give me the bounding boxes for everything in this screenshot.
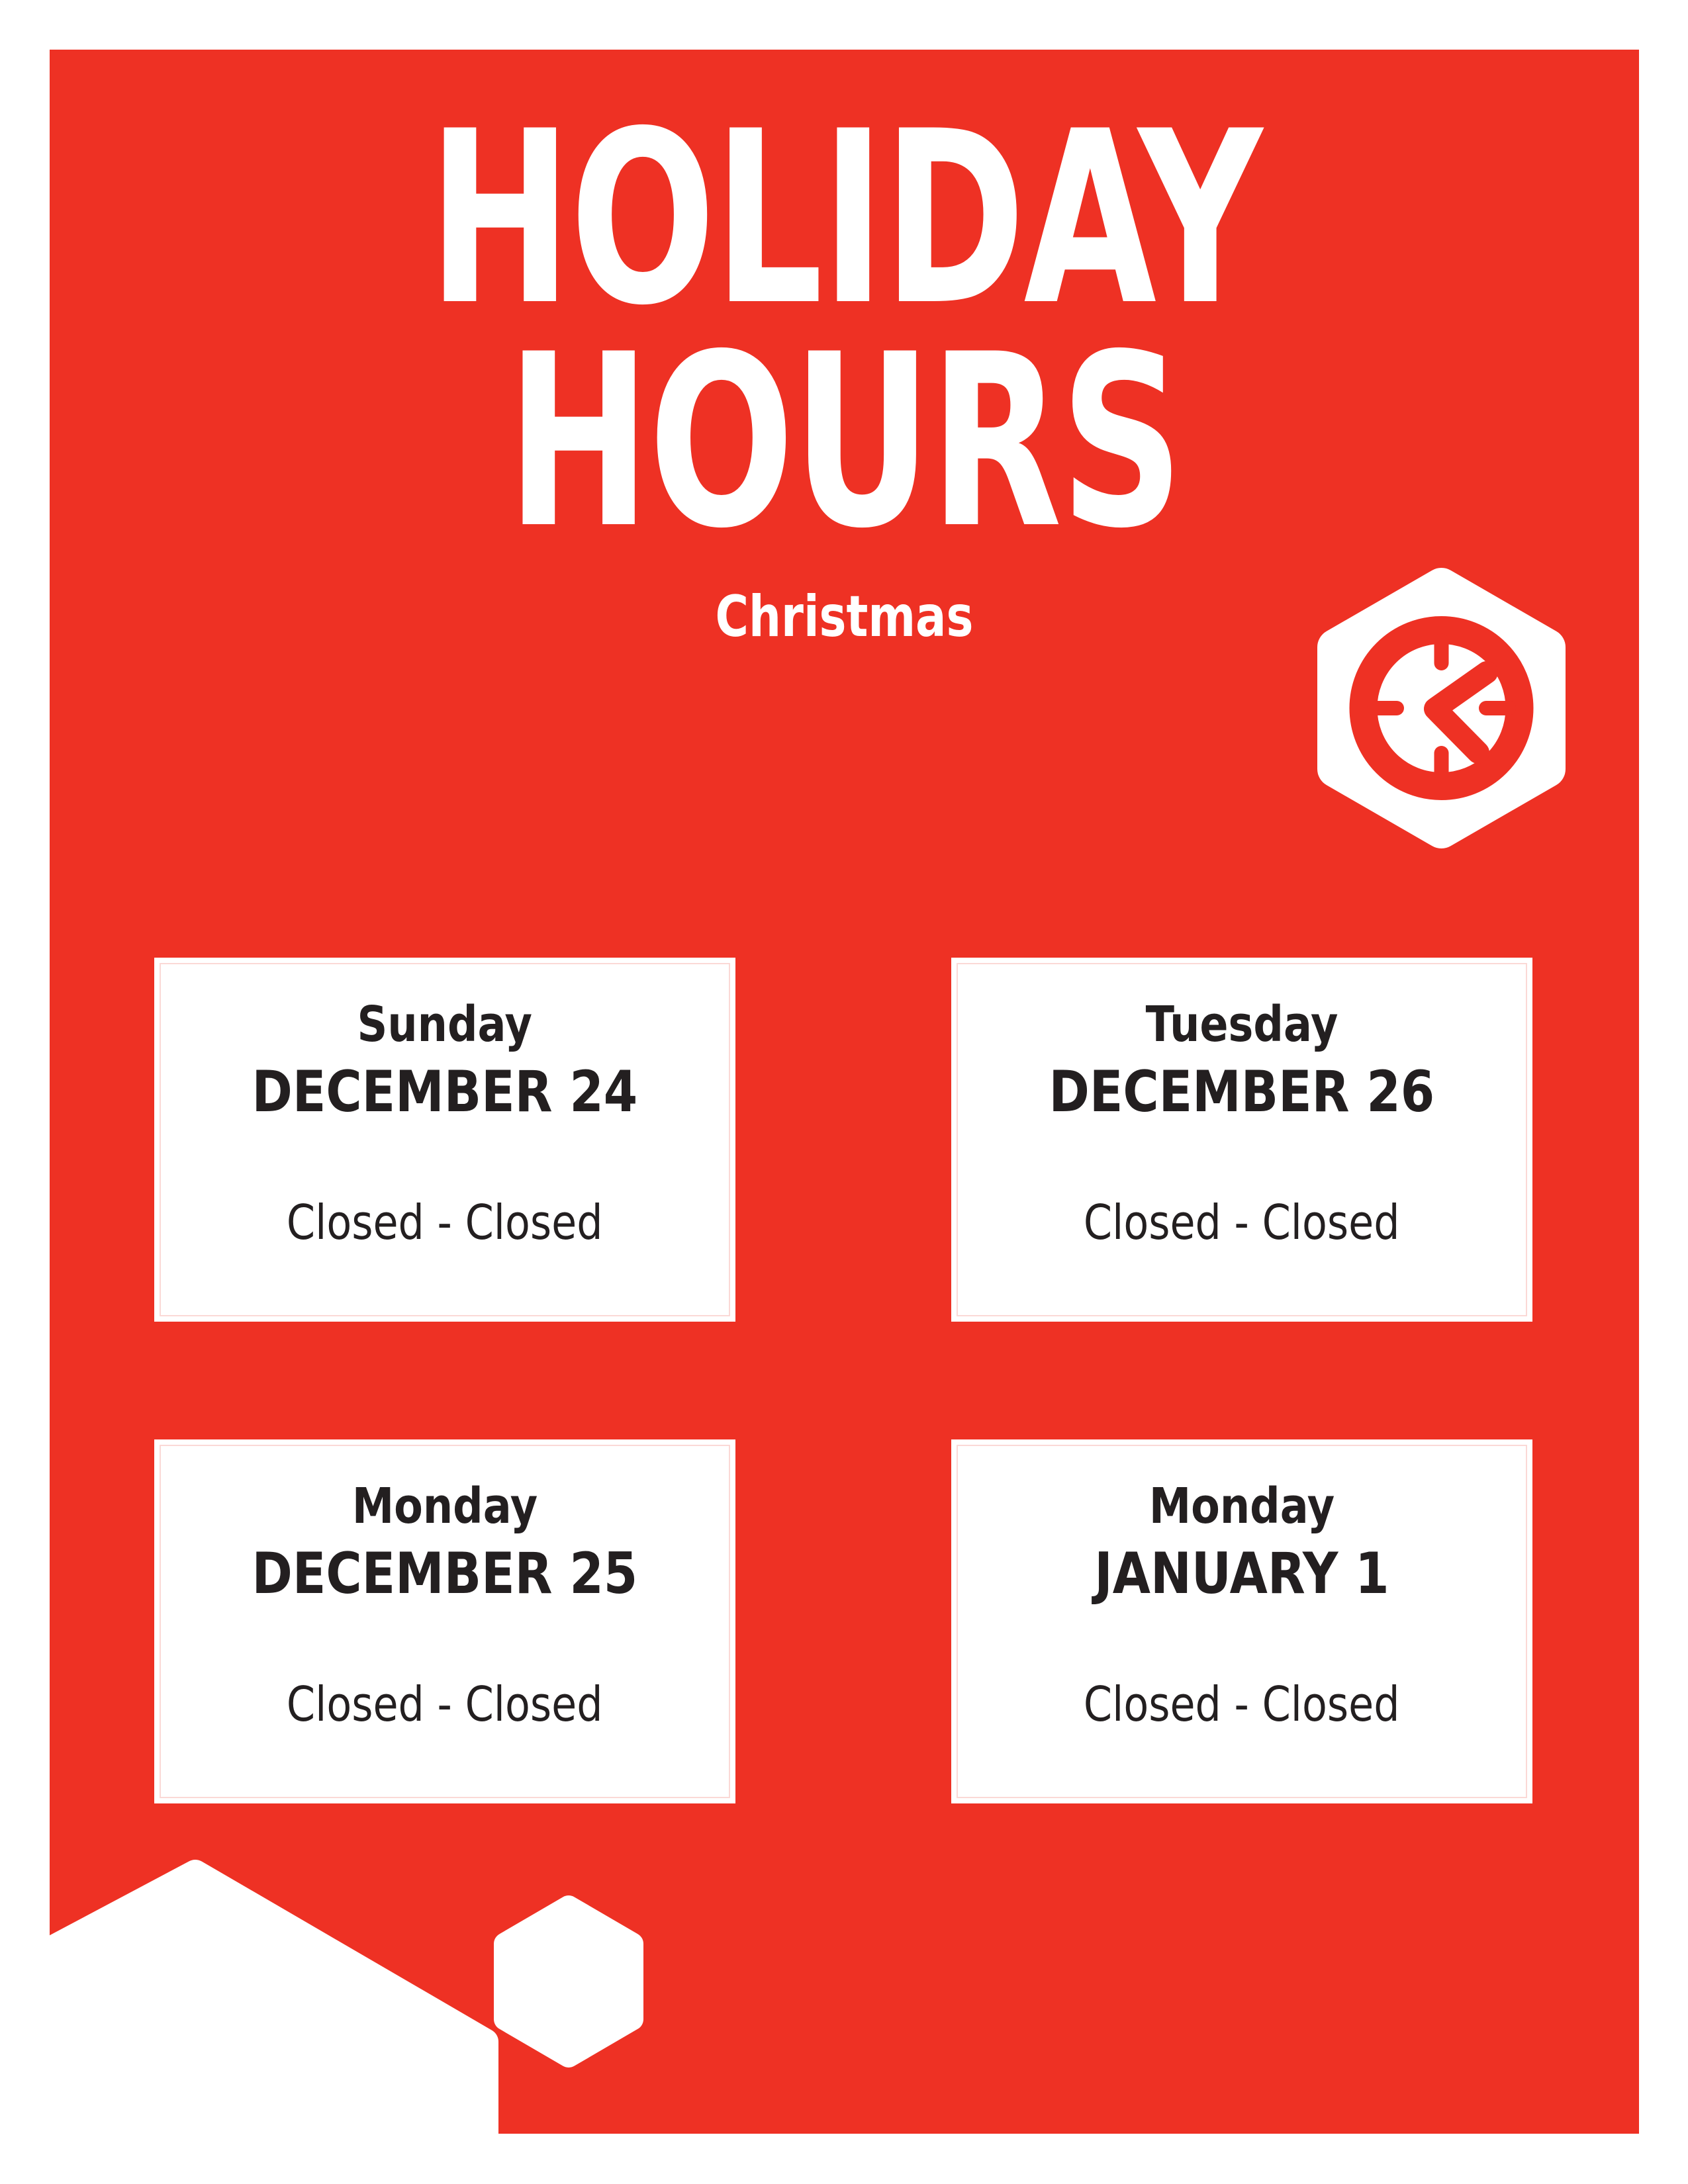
schedule-card[interactable]: Tuesday DECEMBER 26 Closed - Closed — [951, 958, 1532, 1322]
schedule-card[interactable]: Sunday DECEMBER 24 Closed - Closed — [154, 958, 735, 1322]
card-date: DECEMBER 24 — [252, 1061, 638, 1124]
page-title-line-2: HOURS — [272, 332, 1417, 551]
holiday-hours-poster: HOLIDAY HOURS Christmas Sunday DECEMBER … — [50, 50, 1639, 2134]
card-day: Tuesday — [1146, 999, 1338, 1052]
card-hours: Closed - Closed — [287, 1197, 603, 1249]
schedule-card[interactable]: Monday JANUARY 1 Closed - Closed — [951, 1439, 1532, 1803]
page-title-line-1: HOLIDAY — [272, 109, 1417, 328]
card-day: Monday — [1149, 1480, 1335, 1533]
page-subtitle: Christmas — [209, 588, 1480, 645]
clock-icon — [1301, 563, 1582, 907]
schedule-grid: Sunday DECEMBER 24 Closed - Closed Tuesd… — [154, 958, 1533, 1803]
card-day: Sunday — [357, 999, 532, 1052]
poster-headline: HOLIDAY HOURS Christmas — [50, 50, 1639, 645]
card-date: DECEMBER 25 — [252, 1543, 638, 1606]
schedule-card[interactable]: Monday DECEMBER 25 Closed - Closed — [154, 1439, 735, 1803]
hexagon-small-shape — [505, 1907, 632, 2056]
hexagon-large-bottom-left-shape — [50, 1873, 485, 2134]
card-date: DECEMBER 26 — [1049, 1061, 1435, 1124]
card-date: JANUARY 1 — [1094, 1543, 1389, 1606]
card-hours: Closed - Closed — [287, 1678, 603, 1731]
card-hours: Closed - Closed — [1084, 1678, 1400, 1731]
card-day: Monday — [352, 1480, 538, 1533]
card-hours: Closed - Closed — [1084, 1197, 1400, 1249]
